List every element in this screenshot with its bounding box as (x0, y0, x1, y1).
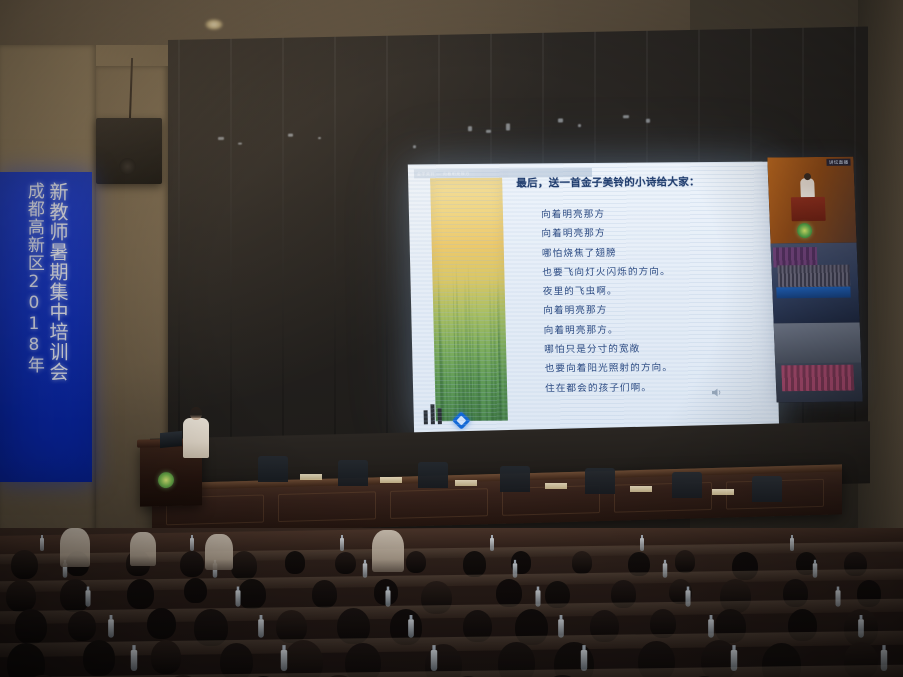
presenter-laptop (160, 431, 182, 448)
slide-surface: 金子美铃 — 向着明亮那方 最后，送一首金子美铃的小诗给大家： 向着明亮那方向着… (408, 162, 779, 437)
slide-image-grass (430, 178, 508, 421)
water-bottle (790, 538, 794, 551)
feed-hall-camera (774, 323, 863, 403)
grass-blade (503, 337, 508, 420)
secondary-camera-monitor: 讲坛直播 (767, 157, 862, 403)
slide-bar-marks (423, 402, 446, 424)
remote-crowd (777, 265, 850, 288)
stage-chair (338, 460, 368, 486)
poem-line: 也要飞向灯火闪烁的方向。 (542, 262, 757, 283)
lighting-rig-glint (558, 118, 563, 122)
name-card (712, 489, 734, 495)
slide-bar (430, 404, 434, 424)
water-bottle (640, 538, 644, 551)
feed-tag: 讲坛直播 (827, 159, 851, 166)
slide-bar (438, 408, 442, 424)
audience-head (184, 578, 207, 603)
water-bottle (85, 590, 90, 606)
audience-head (68, 611, 96, 642)
water-bottle (190, 538, 194, 551)
water-bottle (558, 619, 564, 637)
slide-bar (424, 410, 428, 424)
water-bottle (235, 590, 240, 606)
water-bottle (340, 538, 344, 551)
poem-line: 哪怕烧焦了翅膀 (542, 242, 757, 263)
curtain-fold (334, 37, 336, 477)
name-card (630, 486, 652, 492)
audience-head (127, 579, 154, 609)
lighting-rig-glint (506, 123, 510, 130)
curtain-fold (282, 38, 284, 478)
stage-chair (585, 468, 615, 494)
remote-podium (791, 197, 826, 221)
presenter (183, 418, 209, 458)
remote-emblem-icon (797, 223, 813, 238)
water-bottle (513, 563, 517, 578)
audience-head (83, 640, 115, 676)
audience-head (238, 579, 265, 609)
seated-audience (0, 528, 903, 677)
poem-line: 哪怕只是分寸的宽敞 (544, 339, 759, 360)
water-bottle (858, 619, 864, 637)
remote-blue-table (776, 287, 850, 299)
stage-chair (752, 476, 782, 502)
water-bottle (385, 590, 390, 606)
lighting-rig-glint (413, 145, 416, 148)
name-card (300, 474, 322, 480)
poem-line: 也要向着阳光照射的方向。 (544, 358, 759, 379)
table-panel (278, 491, 376, 522)
remote-floor (774, 323, 862, 364)
lighting-rig-glint (646, 119, 650, 123)
audience-head (572, 551, 593, 574)
water-bottle (40, 538, 44, 551)
curtain-fold (178, 40, 180, 480)
poem-line: 向着明亮那方。 (544, 319, 759, 340)
stage-chair (418, 462, 448, 488)
wall-loudspeaker (96, 118, 162, 184)
audience-head (147, 608, 176, 640)
water-bottle (490, 538, 494, 551)
audience-head (675, 550, 696, 573)
slide-poem: 向着明亮那方向着明亮那方哪怕烧焦了翅膀也要飞向灯火闪烁的方向。夜里的飞虫啊。向着… (541, 204, 761, 399)
water-bottle (813, 563, 817, 578)
stage-chair (500, 466, 530, 492)
water-bottle (258, 619, 264, 637)
audience-head (151, 640, 181, 673)
audience-attendee (130, 532, 156, 566)
poem-line: 向着明亮那方 (541, 223, 756, 244)
lighting-rig-glint (318, 137, 321, 139)
audience-head (7, 643, 45, 677)
water-bottle (881, 650, 887, 671)
stage-chair (672, 472, 702, 498)
name-card (380, 477, 402, 483)
stage-chair (258, 456, 288, 482)
feed-podium-camera: 讲坛直播 (767, 157, 856, 244)
water-bottle (108, 619, 114, 637)
curtain-fold (386, 36, 388, 476)
water-bottle (581, 650, 587, 671)
audience-head (15, 609, 47, 644)
audience-head (220, 643, 253, 677)
lighting-rig-glint (288, 134, 293, 137)
lighting-rig-glint (578, 124, 581, 127)
water-bottle (535, 590, 540, 606)
lighting-rig-glint (218, 137, 224, 140)
banner-text-sub: 成都高新区2018年 (25, 182, 43, 476)
name-card (455, 480, 477, 486)
vertical-blue-banner: 新教师暑期集中培训会 成都高新区2018年 (0, 172, 92, 482)
water-bottle (663, 563, 667, 578)
poem-line: 向着明亮那方 (541, 204, 756, 225)
remote-speaker (800, 178, 815, 198)
audience-head (180, 551, 204, 578)
lighting-rig-glint (468, 126, 472, 131)
poem-line: 夜里的飞虫啊。 (543, 281, 758, 302)
lighting-rig-glint (623, 115, 629, 118)
audience-head (312, 580, 337, 608)
water-bottle (708, 619, 714, 637)
water-bottle (431, 650, 437, 671)
feed-audience-camera (771, 243, 860, 324)
slide-title: 最后，送一首金子美铃的小诗给大家： (516, 174, 748, 191)
lighting-rig-glint (238, 143, 242, 145)
speaker-icon[interactable] (710, 387, 723, 398)
audience-head (6, 580, 35, 612)
auditorium-photo: 新教师暑期集中培训会 成都高新区2018年 金子美铃 — 向着明亮那方 最后，送… (0, 0, 903, 677)
poem-line: 向着明亮那方 (543, 300, 758, 321)
water-bottle (363, 563, 367, 578)
water-bottle (731, 650, 737, 671)
recessed-ceiling-light (205, 19, 223, 30)
audience-attendee (372, 530, 404, 572)
audience-head (285, 551, 305, 573)
projection-screen: 金子美铃 — 向着明亮那方 最后，送一首金子美铃的小诗给大家： 向着明亮那方向着… (408, 162, 779, 437)
remote-seats (781, 365, 854, 392)
audience-head (11, 550, 37, 579)
water-bottle (685, 590, 690, 606)
name-card (545, 483, 567, 489)
audience-head (406, 551, 426, 573)
school-emblem (158, 472, 174, 488)
water-bottle (131, 650, 137, 671)
water-bottle (408, 619, 414, 637)
audience-attendee (60, 528, 90, 567)
audience-head (335, 552, 356, 575)
poem-line: 住在都会的孩子们啊。 (545, 377, 760, 398)
curtain-fold (230, 39, 232, 479)
audience-head (463, 551, 487, 577)
banner-text-main: 新教师暑期集中培训会 (47, 182, 68, 476)
table-panel (390, 488, 488, 519)
water-bottle (281, 650, 287, 671)
audience-head (284, 640, 323, 677)
audience-attendee (205, 534, 233, 570)
audience-head (496, 579, 521, 607)
audience-head (231, 551, 257, 580)
lighting-rig-glint (486, 130, 491, 133)
water-bottle (835, 590, 840, 606)
